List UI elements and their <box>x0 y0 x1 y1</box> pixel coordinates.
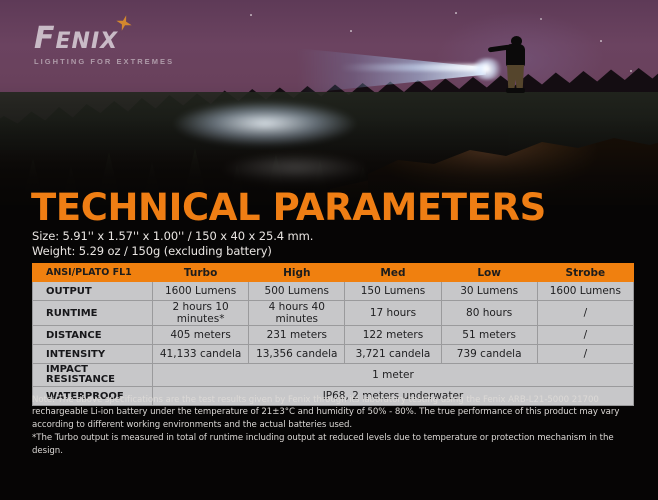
row-label-impact-line2: RESISTANCE <box>46 375 152 385</box>
table-row: IMPACT RESISTANCE 1 meter <box>33 364 634 387</box>
row-label-impact-resistance: IMPACT RESISTANCE <box>33 364 153 387</box>
star-speck <box>250 14 252 16</box>
logo-word-f: F <box>34 21 56 56</box>
technical-parameters-table: ANSI/PLATO FL1 Turbo High Med Low Strobe… <box>32 263 633 406</box>
person-silhouette <box>498 36 532 92</box>
person-boots <box>506 88 525 93</box>
table-header-strobe: Strobe <box>537 264 633 282</box>
fenix-logo: FENIX LIGHTING FOR EXTREMES <box>34 24 174 66</box>
hero-image: FENIX LIGHTING FOR EXTREMES <box>0 0 658 205</box>
cell-distance-low: 51 meters <box>441 326 537 345</box>
row-label-runtime: RUNTIME <box>33 301 153 326</box>
logo-tagline: LIGHTING FOR EXTREMES <box>34 57 174 66</box>
table-header-turbo: Turbo <box>153 264 249 282</box>
spec-size: Size: 5.91'' x 1.57'' x 1.00'' / 150 x 4… <box>32 229 313 245</box>
row-label-distance: DISTANCE <box>33 326 153 345</box>
spec-weight: Weight: 5.29 oz / 150g (excluding batter… <box>32 244 272 260</box>
star-speck <box>540 18 542 20</box>
footnote-paragraph-2: *The Turbo output is measured in total o… <box>32 432 638 457</box>
cell-runtime-strobe: / <box>537 301 633 326</box>
table-row: DISTANCE 405 meters 231 meters 122 meter… <box>33 326 634 345</box>
table-row: INTENSITY 41,133 candela 13,356 candela … <box>33 345 634 364</box>
cell-output-high: 500 Lumens <box>249 282 345 301</box>
star-speck <box>630 70 632 72</box>
footnote-block: Note: The above specifications are the t… <box>32 394 638 457</box>
table-header-high: High <box>249 264 345 282</box>
star-speck <box>600 40 602 42</box>
page-title: TECHNICAL PARAMETERS <box>31 189 546 226</box>
cell-runtime-turbo: 2 hours 10 minutes* <box>153 301 249 326</box>
row-label-intensity: INTENSITY <box>33 345 153 364</box>
logo-wordmark: FENIX <box>34 24 174 54</box>
cell-intensity-low: 739 candela <box>441 345 537 364</box>
cell-output-turbo: 1600 Lumens <box>153 282 249 301</box>
flashlight-beam-core <box>340 64 488 71</box>
cell-distance-turbo: 405 meters <box>153 326 249 345</box>
cell-distance-high: 231 meters <box>249 326 345 345</box>
cell-runtime-high: 4 hours 40 minutes <box>249 301 345 326</box>
table-header-low: Low <box>441 264 537 282</box>
cell-intensity-high: 13,356 candela <box>249 345 345 364</box>
table-header-row: ANSI/PLATO FL1 Turbo High Med Low Strobe <box>33 264 634 282</box>
row-label-output: OUTPUT <box>33 282 153 301</box>
cell-output-med: 150 Lumens <box>345 282 441 301</box>
star-speck <box>455 12 457 14</box>
cell-runtime-med: 17 hours <box>345 301 441 326</box>
cell-output-low: 30 Lumens <box>441 282 537 301</box>
product-spec-page: FENIX LIGHTING FOR EXTREMES TECHNICAL PA… <box>0 0 658 500</box>
table-header-med: Med <box>345 264 441 282</box>
table-row: OUTPUT 1600 Lumens 500 Lumens 150 Lumens… <box>33 282 634 301</box>
table-row: RUNTIME 2 hours 10 minutes* 4 hours 40 m… <box>33 301 634 326</box>
footnote-paragraph-1: Note: The above specifications are the t… <box>32 394 638 431</box>
logo-word-enix: ENIX <box>56 29 119 54</box>
table-header-standard: ANSI/PLATO FL1 <box>33 264 153 282</box>
cell-distance-med: 122 meters <box>345 326 441 345</box>
cell-intensity-med: 3,721 candela <box>345 345 441 364</box>
cell-impact-resistance-value: 1 meter <box>153 364 634 387</box>
cell-runtime-low: 80 hours <box>441 301 537 326</box>
cell-intensity-turbo: 41,133 candela <box>153 345 249 364</box>
star-speck <box>350 30 352 32</box>
cell-distance-strobe: / <box>537 326 633 345</box>
cell-intensity-strobe: / <box>537 345 633 364</box>
cell-output-strobe: 1600 Lumens <box>537 282 633 301</box>
